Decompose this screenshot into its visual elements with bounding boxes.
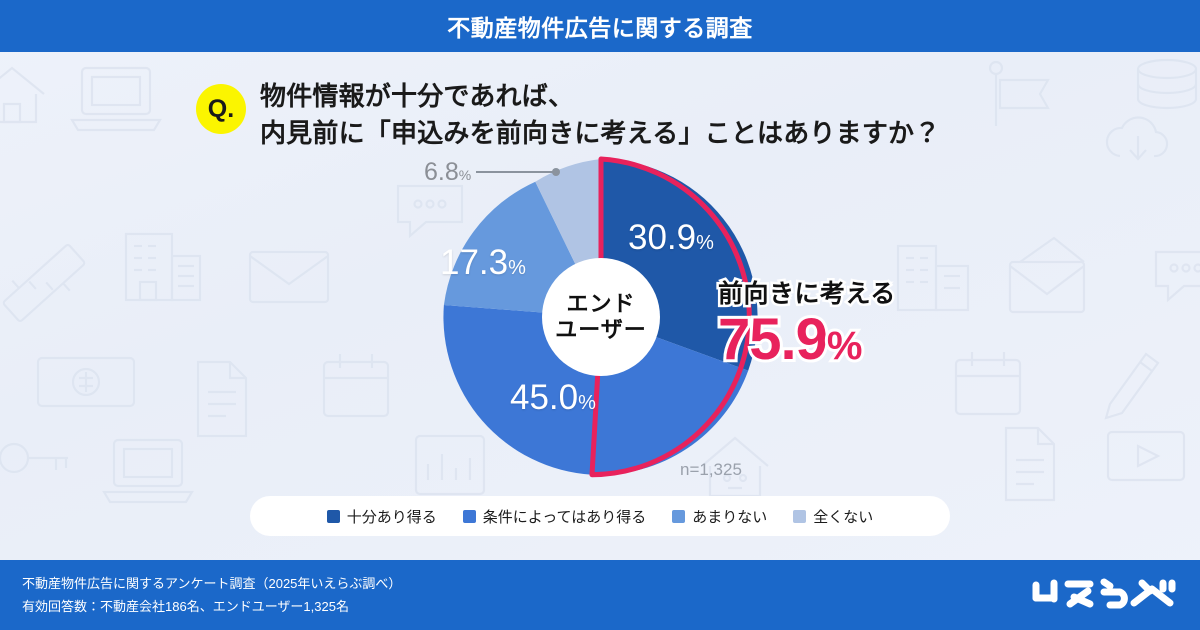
callout-label: 前向きに考える xyxy=(718,274,896,310)
cloud-download-icon xyxy=(1100,108,1176,170)
footer-line-2: 有効回答数：不動産会社186名、エンドユーザー1,325名 xyxy=(22,596,401,619)
chat-right-icon xyxy=(1150,244,1200,310)
file-icon xyxy=(996,424,1064,504)
envelope-right-icon xyxy=(1002,232,1094,318)
donut-center-line-1: エンド xyxy=(566,291,635,317)
ielove-logo-mark xyxy=(1030,577,1178,613)
ruler-icon xyxy=(0,232,92,328)
slice-value-全くない: 6.8% xyxy=(424,158,471,187)
header-bar: 不動産物件広告に関する調査 xyxy=(0,0,1200,52)
calendar-right-icon xyxy=(950,348,1026,420)
banknote-icon xyxy=(34,352,138,412)
legend-label: 十分あり得る xyxy=(347,506,437,527)
sample-size-label: n=1,325 xyxy=(680,460,742,480)
page-title: 不動産物件広告に関する調査 xyxy=(447,9,753,43)
laptop-icon xyxy=(68,62,164,136)
slice-value-あまりない: 17.3% xyxy=(440,243,526,283)
question-line-1: 物件情報が十分であれば、 xyxy=(260,78,940,115)
legend-swatch-icon xyxy=(793,510,806,523)
legend-label: 全くない xyxy=(813,506,873,527)
database-icon xyxy=(1130,56,1200,118)
legend-label: 条件によってはあり得る xyxy=(483,506,647,527)
question-text: 物件情報が十分であれば、 内見前に「申込みを前向きに考える」ことはありますか？ xyxy=(260,78,940,152)
callout-value: 75.9% xyxy=(718,306,896,373)
legend-swatch-icon xyxy=(463,510,476,523)
legend-swatch-icon xyxy=(672,510,685,523)
pencil-icon xyxy=(1096,342,1166,422)
building-icon xyxy=(122,230,204,304)
video-icon xyxy=(1104,426,1188,486)
house-icon xyxy=(0,60,52,130)
legend-item-3[interactable]: 全くない xyxy=(793,506,873,527)
legend-item-0[interactable]: 十分あり得る xyxy=(327,506,437,527)
envelope-icon xyxy=(246,242,332,306)
legend-item-2[interactable]: あまりない xyxy=(672,506,767,527)
building-right-icon xyxy=(892,240,974,314)
donut-center-label: エンド ユーザー xyxy=(542,258,660,376)
document-icon xyxy=(186,358,256,440)
donut-center-line-2: ユーザー xyxy=(555,317,647,343)
footer-bar: 不動産物件広告に関するアンケート調査（2025年いえらぶ調べ） 有効回答数：不動… xyxy=(0,560,1200,630)
legend-item-1[interactable]: 条件によってはあり得る xyxy=(463,506,647,527)
key-icon xyxy=(0,426,72,490)
chart-legend: 十分あり得る 条件によってはあり得る あまりない 全くない xyxy=(250,496,950,536)
question-line-2: 内見前に「申込みを前向きに考える」ことはありますか？ xyxy=(260,115,940,152)
highlight-callout: 前向きに考える 75.9% xyxy=(718,274,896,373)
infographic-page: 不動産物件広告に関する調査 Q. 物件情報が十分であれば、 内見前に「申込みを前… xyxy=(0,0,1200,630)
ielove-logo[interactable] xyxy=(1030,577,1178,613)
footer-line-1: 不動産物件広告に関するアンケート調査（2025年いえらぶ調べ） xyxy=(22,573,401,596)
slice-value-十分あり得る: 30.9% xyxy=(628,218,714,258)
footer-source: 不動産物件広告に関するアンケート調査（2025年いえらぶ調べ） 有効回答数：不動… xyxy=(22,573,401,619)
leader-dot xyxy=(552,168,560,176)
legend-label: あまりない xyxy=(692,506,767,527)
question-badge: Q. xyxy=(196,84,246,134)
calendar-icon xyxy=(318,350,394,422)
slice-value-条件によってはあり得る: 45.0% xyxy=(510,378,596,418)
question-block: Q. 物件情報が十分であれば、 内見前に「申込みを前向きに考える」ことはあります… xyxy=(196,78,1026,152)
laptop-bottom-icon xyxy=(100,434,196,508)
legend-swatch-icon xyxy=(327,510,340,523)
